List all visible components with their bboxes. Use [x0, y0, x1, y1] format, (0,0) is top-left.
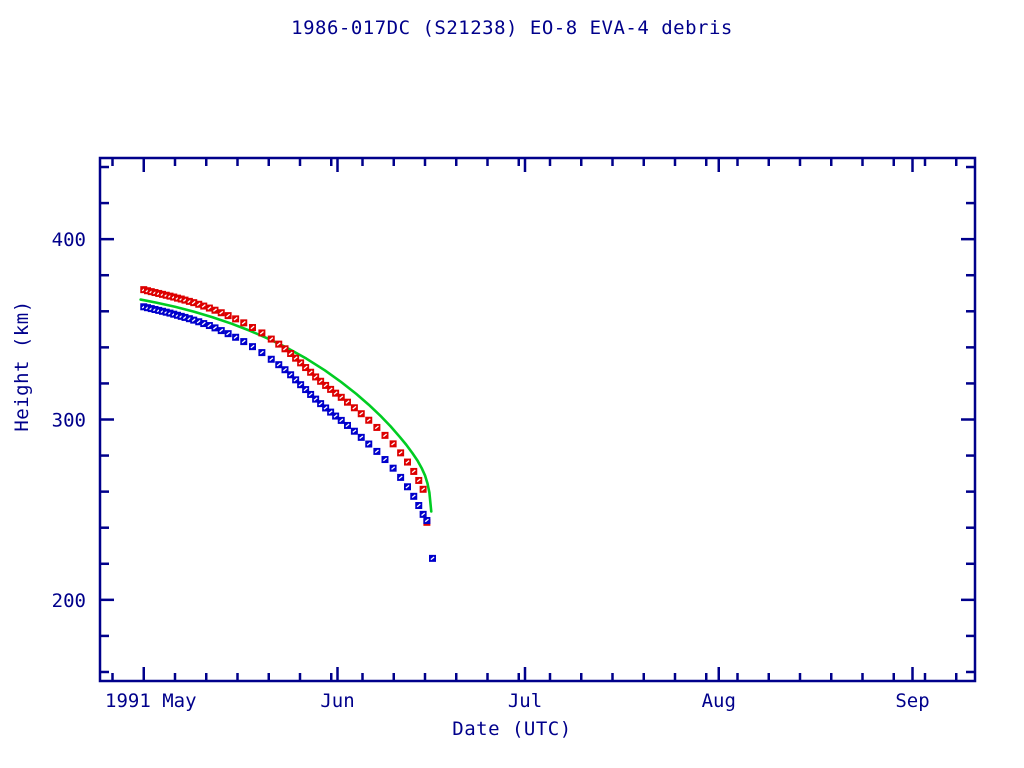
y-tick-label: 200	[52, 590, 86, 612]
series-perigee	[140, 303, 436, 562]
y-axis-title: Height (km)	[11, 266, 33, 466]
x-tick-label: Aug	[702, 690, 736, 712]
x-tick-label: 1991 May	[105, 690, 197, 712]
x-tick-label: Jun	[320, 690, 354, 712]
x-axis-title: Date (UTC)	[0, 718, 1024, 740]
chart-page: 1986-017DC (S21238) EO-8 EVA-4 debris 40…	[0, 0, 1024, 768]
x-tick-label: Sep	[895, 690, 929, 712]
y-tick-label: 400	[52, 229, 86, 251]
plot-frame	[100, 158, 975, 681]
x-tick-label: Jul	[508, 690, 542, 712]
y-tick-label: 300	[52, 410, 86, 432]
decay-plot-svg: 4003002001991 MayJunJulAugSep	[0, 0, 1024, 768]
series-apogee	[140, 286, 430, 526]
axis-ticks	[100, 158, 975, 681]
fit-curve	[141, 300, 432, 512]
